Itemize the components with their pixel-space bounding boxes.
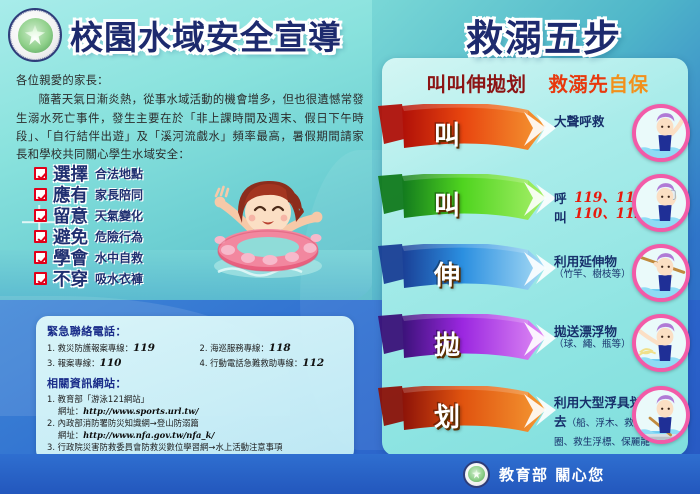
checklist-item-detail: 家長陪同 (95, 186, 143, 203)
parent-letter: 各位親愛的家長： 隨著天氣日漸炎熱，從事水域活動的機會增多，但也很遺憾常發生溺水… (16, 72, 364, 164)
photo-shout-for-help (632, 104, 690, 162)
step-main-text: 利用延伸物 (554, 254, 644, 269)
step-row[interactable]: 伸利用延伸物（竹竿、樹枝等） (378, 244, 692, 306)
step-sub-text: （球、繩、瓶等） (554, 339, 644, 351)
step-main-text: 大聲呼救 (554, 114, 644, 129)
site-url[interactable]: http://www.nfa.gov.tw/nfa_k/ (83, 430, 214, 440)
phone-label: 海巡服務專線： (210, 343, 269, 353)
site-index: 3. (47, 442, 55, 452)
step-description: 拋送漂浮物（球、繩、瓶等） (554, 324, 644, 352)
photo-throw-float (632, 314, 690, 372)
site-name: 行政院災害防救委員會防救災數位學習網→水上活動注意事項 (58, 442, 283, 452)
step-main-text: 拋送漂浮物 (554, 324, 644, 339)
checklist-item-detail: 合法地點 (95, 165, 143, 182)
footer-ministry-emblem-icon (463, 461, 490, 488)
emergency-phone-row: 2. 海巡服務專線：118 (200, 342, 345, 354)
checkbox-checked-icon[interactable] (34, 272, 47, 285)
checklist-item[interactable]: 學會水中自救 (34, 247, 143, 267)
site-url[interactable]: http://www.sports.url.tw/ (83, 406, 198, 416)
site-index: 1. (47, 394, 55, 404)
step-description: 呼叫119、118110、112 (554, 188, 644, 226)
phone-index: 2. (200, 343, 208, 353)
site-index: 2. (47, 418, 55, 428)
phone-label: 報案專線： (58, 358, 100, 368)
footer-text: 教育部 關心您 (499, 464, 605, 485)
letter-paragraph: 隨著天氣日漸炎熱，從事水域活動的機會增多，但也很遺憾常發生溺水死亡事件，發生主要… (16, 91, 364, 164)
step-row[interactable]: 叫呼叫119、118110、112 (378, 174, 692, 236)
checkbox-checked-icon[interactable] (34, 230, 47, 243)
site-url-row: 網址：http://www.nfa.gov.tw/nfa_k/ (47, 430, 344, 442)
site-name-row: 3. 行政院災害防救委員會防救災數位學習網→水上活動注意事項 (47, 442, 344, 454)
checkbox-checked-icon[interactable] (34, 188, 47, 201)
page-title: 校園水域安全宣導 (70, 11, 342, 59)
site-url-label: 網址： (58, 406, 83, 416)
step-character: 伸 (434, 255, 460, 292)
phone-index: 1. (47, 343, 55, 353)
footer-bar: 教育部 關心您 (0, 454, 700, 494)
ministry-of-education-emblem-icon (8, 8, 62, 62)
related-sites-heading: 相關資訊網站： (47, 375, 344, 391)
photo-reach-with-pole (632, 244, 690, 302)
photo-paddle-with-boat (632, 386, 690, 444)
subtitle-part-3: 自保 (608, 73, 648, 96)
site-url-label: 網址： (58, 430, 83, 440)
step-ribbon (378, 174, 576, 226)
five-steps-subtitle: 叫叫伸拋划 救溺先自保 (390, 68, 685, 97)
step-tel-label: 呼叫 (554, 188, 570, 226)
checklist-item[interactable]: 不穿吸水衣褲 (34, 268, 143, 288)
checklist-item[interactable]: 應有家長陪同 (34, 184, 143, 204)
checklist-item[interactable]: 選擇合法地點 (34, 163, 143, 183)
step-character: 拋 (434, 325, 460, 362)
emergency-phone-row: 4. 行動電話急難救助專線：112 (200, 357, 345, 369)
site-name: 教育部「游泳121網站」 (58, 394, 149, 404)
phone-index: 3. (47, 358, 55, 368)
emergency-phones-list: 1. 救災防護報案專線：1192. 海巡服務專線：1183. 報案專線：1104… (47, 342, 344, 369)
checklist-item-detail: 天氣變化 (95, 207, 143, 224)
checklist-item-detail: 水中自救 (95, 249, 143, 266)
site-name-row: 2. 內政部消防署防災知識網→登山防溺篇 (47, 418, 344, 430)
phone-label: 行動電話急難救助專線： (210, 358, 302, 368)
site-name: 內政部消防署防災知識網→登山防溺篇 (58, 418, 199, 428)
checkbox-checked-icon[interactable] (34, 251, 47, 264)
phone-number: 110 (100, 357, 122, 369)
checklist-item[interactable]: 留意天氣變化 (34, 205, 143, 225)
step-description: 大聲呼救 (554, 114, 644, 129)
site-url-row: 網址：http://www.sports.url.tw/ (47, 406, 344, 418)
step-ribbon (378, 244, 576, 296)
photo-call-emergency (632, 174, 690, 232)
poster-root: 校園水域安全宣導 各位親愛的家長： 隨著天氣日漸炎熱，從事水域活動的機會增多，但… (0, 0, 700, 494)
info-panel: 緊急聯絡電話： 1. 救災防護報案專線：1192. 海巡服務專線：1183. 報… (36, 316, 354, 462)
related-site-entry: 2. 內政部消防署防災知識網→登山防溺篇網址：http://www.nfa.go… (47, 418, 344, 442)
header-left: 校園水域安全宣導 (8, 8, 342, 62)
step-ribbon (378, 386, 576, 438)
phone-label: 救災防護報案專線： (58, 343, 133, 353)
step-sub-text: （竹竿、樹枝等） (554, 269, 644, 281)
emergency-phone-row: 3. 報案專線：110 (47, 357, 192, 369)
step-character: 叫 (434, 185, 460, 222)
step-description: 利用延伸物（竹竿、樹枝等） (554, 254, 644, 282)
subtitle-part-1: 叫叫伸拋划 (427, 73, 527, 96)
five-steps-title: 救溺五步 (418, 8, 670, 62)
subtitle-part-2: 救溺先 (548, 73, 608, 96)
footer-emblem-plant-icon (472, 469, 481, 478)
checkbox-checked-icon[interactable] (34, 209, 47, 222)
emergency-phone-row: 1. 救災防護報案專線：119 (47, 342, 192, 354)
phone-index: 4. (200, 358, 208, 368)
step-row[interactable]: 拋拋送漂浮物（球、繩、瓶等） (378, 314, 692, 376)
checklist-item-detail: 吸水衣褲 (95, 270, 143, 287)
step-character: 划 (434, 397, 460, 434)
five-steps-list: 叫大聲呼救叫呼叫119、118110、112伸利用延伸物（竹竿、樹枝等）拋拋送漂… (378, 104, 692, 448)
site-name-row: 1. 教育部「游泳121網站」 (47, 394, 344, 406)
letter-salutation: 各位親愛的家長： (16, 72, 364, 90)
step-ribbon (378, 314, 576, 366)
emergency-phones-heading: 緊急聯絡電話： (47, 323, 344, 339)
step-row[interactable]: 叫大聲呼救 (378, 104, 692, 166)
step-ribbon (378, 104, 576, 156)
footer-emblem-inner (468, 466, 484, 482)
step-row[interactable]: 划利用大型浮具划過去（船、浮木、救生圈、救生浮標、保麗龍等） (378, 386, 692, 448)
phone-number: 112 (302, 357, 324, 369)
related-site-entry: 1. 教育部「游泳121網站」網址：http://www.sports.url.… (47, 394, 344, 418)
checklist-item-detail: 危險行為 (95, 228, 143, 245)
checkbox-checked-icon[interactable] (34, 167, 47, 180)
step-character: 叫 (434, 115, 460, 152)
child-in-swim-ring-illustration (198, 168, 338, 290)
phone-number: 118 (269, 342, 291, 354)
checklist-item-keyword: 不穿 (53, 266, 88, 291)
safety-checklist: 選擇合法地點應有家長陪同留意天氣變化避免危險行為學會水中自救不穿吸水衣褲 (34, 163, 143, 288)
phone-number: 119 (133, 342, 155, 354)
checklist-item[interactable]: 避免危險行為 (34, 226, 143, 246)
